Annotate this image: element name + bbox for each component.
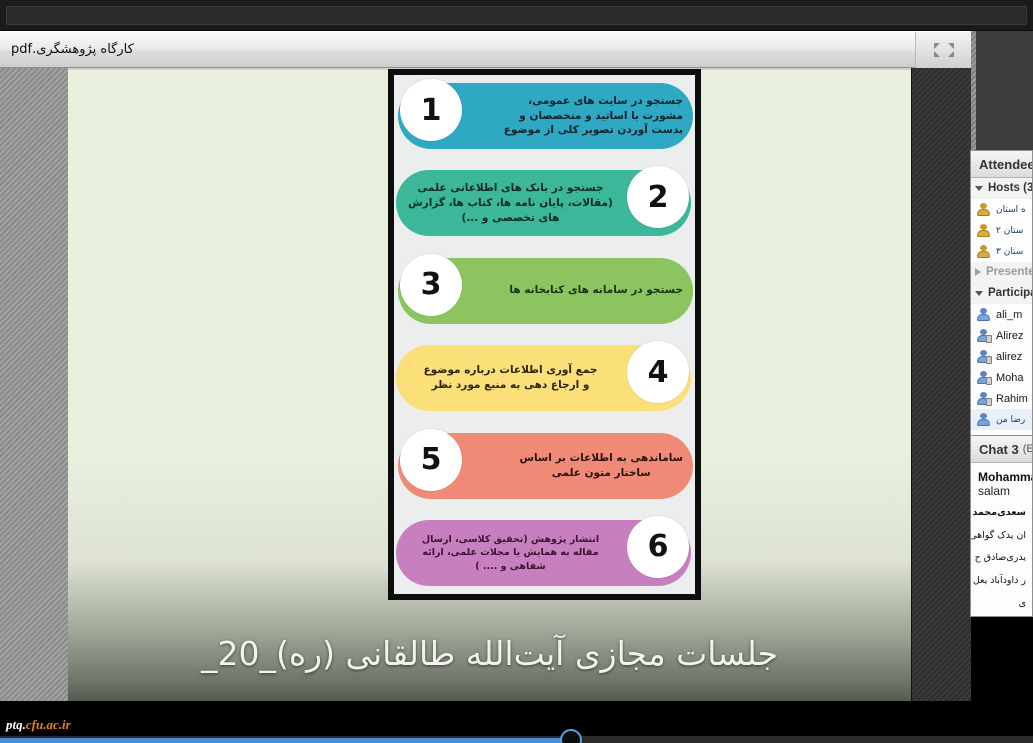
step-number-1: 1 <box>400 79 462 141</box>
research-steps-infographic: جستجو در سایت های عمومی، مشورت با اساتید… <box>388 69 701 600</box>
attendee-name: ستان ۲ <box>996 226 1023 236</box>
attendees-group-presenters[interactable]: Presenters <box>971 262 1032 283</box>
step-number-4: 4 <box>627 341 689 403</box>
participant-icon <box>976 413 991 427</box>
chat-message-author: Mohammad <box>978 470 1026 484</box>
player-top-strip <box>0 0 1033 31</box>
chat-message-text: ی <box>978 596 1026 612</box>
chevron-down-icon <box>975 291 983 296</box>
attendee-row-participant-3[interactable]: alirez <box>971 346 1032 367</box>
player-top-strip-inner <box>6 6 1027 25</box>
chevron-down-icon <box>975 186 983 191</box>
attendee-name: Moha <box>996 372 1024 384</box>
attendee-name: Alirez <box>996 330 1024 342</box>
step-text-1: جستجو در سایت های عمومی، مشورت با اساتید… <box>504 94 683 139</box>
chat-pod-header: Chat 3 (E <box>971 436 1032 463</box>
attendee-name: رضا من <box>996 415 1025 425</box>
attendee-name: Rahim <box>996 393 1028 405</box>
fullscreen-button[interactable] <box>915 32 971 68</box>
participant-webcam-icon <box>976 329 991 343</box>
attendees-group-participants-label: Participants <box>988 287 1033 299</box>
chat-message-list[interactable]: Mohammad salam سعدی‌محمد حس ان یدک گواهی… <box>971 463 1032 611</box>
attendees-group-hosts[interactable]: Hosts (3 <box>971 178 1032 199</box>
pdf-window-titlebar: کارگاه پژوهشگری.pdf <box>0 31 971 68</box>
host-icon <box>976 203 991 217</box>
attendee-row-participant-6[interactable]: رضا من <box>971 409 1032 430</box>
slide-caption: جلسات مجازی آیت‌الله طالقانی (ره)_20_ <box>68 634 911 673</box>
step-number-5: 5 <box>400 429 462 491</box>
step-text-6: انتشار پژوهش (تحقیق کلاسی، ارسال مقاله ب… <box>422 533 599 573</box>
brand-url-domain: cfu.ac.ir <box>26 717 71 732</box>
pdf-window-title: کارگاه پژوهشگری.pdf <box>11 42 134 57</box>
stage-right-gutter <box>911 68 971 701</box>
attendee-row-participant-5[interactable]: Rahim <box>971 388 1032 409</box>
attendees-pod-header: Attendees <box>971 151 1032 178</box>
participant-webcam-icon <box>976 392 991 406</box>
playback-progress-fill <box>0 738 570 743</box>
step-row-6: انتشار پژوهش (تحقیق کلاسی، ارسال مقاله ب… <box>394 516 695 590</box>
attendees-group-hosts-label: Hosts (3 <box>988 182 1033 194</box>
stage-right-edge-hatch <box>971 31 976 150</box>
brand-url-prefix: ptq. <box>6 717 26 732</box>
host-icon <box>976 245 991 259</box>
step-text-5: ساماندهی به اطلاعات بر اساس ساختار متون … <box>519 451 683 481</box>
participant-icon <box>976 308 991 322</box>
step-text-2: جستجو در بانک های اطلاعاتی علمی (مقالات،… <box>408 181 613 226</box>
brand-url: ptq.cfu.ac.ir <box>6 717 71 733</box>
attendees-group-presenters-label: Presenters <box>986 266 1033 278</box>
attendee-row-participant-4[interactable]: Moha <box>971 367 1032 388</box>
attendee-name: ه استان <box>996 205 1026 215</box>
host-icon <box>976 224 991 238</box>
attendees-pod-title: Attendees <box>979 157 1033 172</box>
step-text-3: جستجو در سامانه های کتابخانه ها <box>509 283 683 298</box>
attendee-row-participant-2[interactable]: Alirez <box>971 325 1032 346</box>
step-row-4: جمع آوری اطلاعات درباره موضوع و ارجاع ده… <box>394 341 695 415</box>
participant-webcam-icon <box>976 350 991 364</box>
chat-message-text: ر داودآباد یعل <box>978 573 1026 589</box>
attendee-name: ستان ۳ <box>996 247 1023 257</box>
right-chrome-gap <box>971 31 1033 150</box>
chat-message-text: یدری‌صادق ح <box>978 550 1026 566</box>
step-row-1: جستجو در سایت های عمومی، مشورت با اساتید… <box>394 79 695 153</box>
chat-pod: Chat 3 (E Mohammad salam سعدی‌محمد حس ان… <box>970 435 1033 617</box>
chevron-right-icon <box>975 268 981 276</box>
attendee-row-host-3[interactable]: ستان ۳ <box>971 241 1032 262</box>
fullscreen-icon <box>933 41 955 59</box>
share-stage: جستجو در سایت های عمومی، مشورت با اساتید… <box>0 68 971 701</box>
app-root: کارگاه پژوهشگری.pdf جستجو در سایت های عم… <box>0 0 1033 743</box>
attendee-row-participant-1[interactable]: ali_m <box>971 304 1032 325</box>
step-number-3: 3 <box>400 254 462 316</box>
step-text-4: جمع آوری اطلاعات درباره موضوع و ارجاع ده… <box>424 363 598 393</box>
attendees-group-participants[interactable]: Participants <box>971 283 1032 304</box>
step-row-3: جستجو در سامانه های کتابخانه ها 3 <box>394 254 695 328</box>
step-row-5: ساماندهی به اطلاعات بر اساس ساختار متون … <box>394 429 695 503</box>
attendee-row-host-1[interactable]: ه استان <box>971 199 1032 220</box>
player-bottom-bar: ptq.cfu.ac.ir <box>0 701 1033 743</box>
attendee-row-host-2[interactable]: ستان ۲ <box>971 220 1032 241</box>
chat-message-text: ان یدک گواهی <box>978 528 1026 544</box>
chat-pod-title: Chat 3 <box>979 442 1019 457</box>
chat-message-text: salam <box>978 484 1026 498</box>
infographic-inner: جستجو در سایت های عمومی، مشورت با اساتید… <box>394 75 695 594</box>
step-number-2: 2 <box>627 166 689 228</box>
step-number-6: 6 <box>627 516 689 578</box>
shared-slide: جستجو در سایت های عمومی، مشورت با اساتید… <box>68 68 911 701</box>
playback-seekbar[interactable] <box>0 736 1033 743</box>
step-row-2: جستجو در بانک های اطلاعاتی علمی (مقالات،… <box>394 166 695 240</box>
chat-pod-subtitle: (E <box>1023 443 1033 455</box>
attendees-pod: Attendees Hosts (3 ه استان ستان ۲ ستان ۳… <box>970 150 1033 438</box>
playback-seek-handle[interactable] <box>560 729 582 743</box>
attendee-name: alirez <box>996 351 1022 363</box>
participant-webcam-icon <box>976 371 991 385</box>
chat-message-text: سعدی‌محمد حس <box>978 505 1026 521</box>
attendee-name: ali_m <box>996 309 1022 321</box>
